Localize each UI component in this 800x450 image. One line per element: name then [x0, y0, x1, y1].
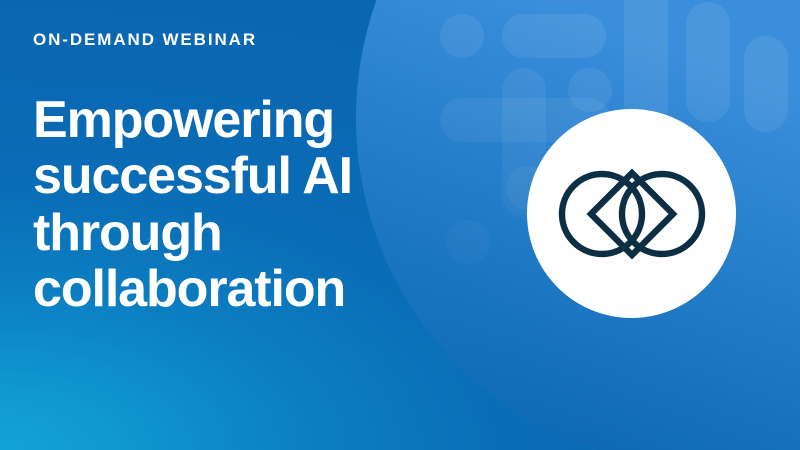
logo-badge	[527, 109, 736, 318]
page-title: Empowering successful AI through collabo…	[33, 92, 433, 318]
headline-line-3: through	[33, 205, 433, 261]
webinar-promo-banner: ON-DEMAND WEBINAR Empowering successful …	[0, 0, 800, 450]
interlocking-circles-diamond-logo	[552, 164, 712, 264]
eyebrow-label: ON-DEMAND WEBINAR	[33, 30, 257, 50]
text-content-block: ON-DEMAND WEBINAR Empowering successful …	[33, 0, 453, 450]
headline-line-2: successful AI	[33, 148, 433, 204]
headline-line-1: Empowering	[33, 92, 433, 148]
headline-line-4: collaboration	[33, 261, 433, 317]
